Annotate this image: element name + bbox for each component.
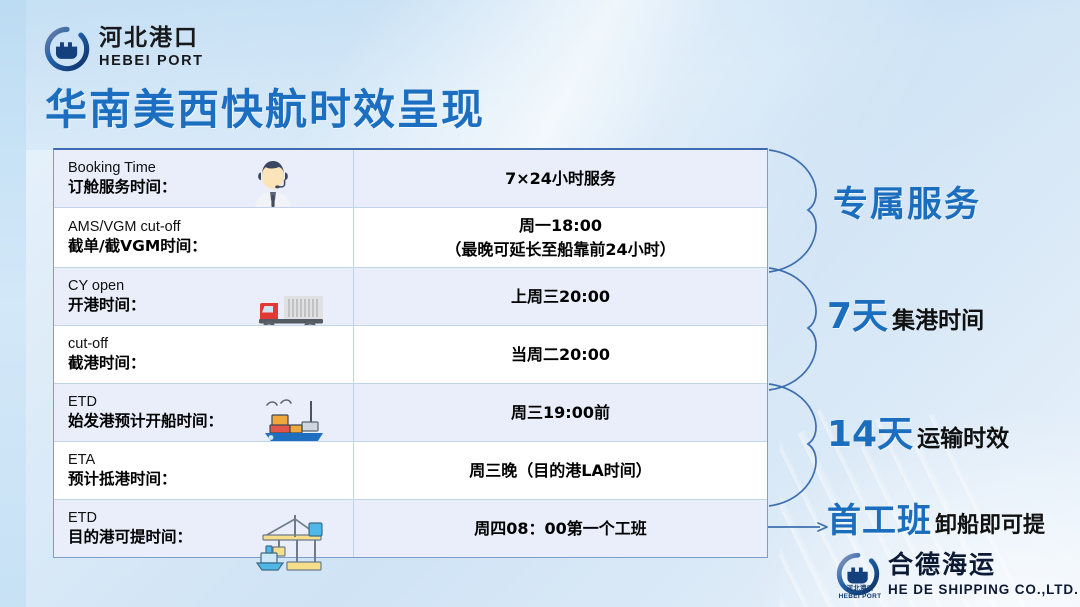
footer-logo-sub: 河北港口 HEBEI PORT bbox=[838, 585, 882, 600]
callout-2-big: 7天 bbox=[827, 287, 888, 339]
callout-4-big: 首工班 bbox=[827, 493, 932, 542]
row-label-en: ETD bbox=[68, 394, 347, 412]
footer-logo-cn: 合德海运 bbox=[888, 552, 1079, 577]
table-row: Booking Time 订舱服务时间： bbox=[54, 150, 767, 207]
row-label-cn: 始发港预计开船时间： bbox=[68, 412, 347, 431]
row-value-line1: 周四08：00第一个工班 bbox=[474, 519, 647, 538]
callout-2-small: 集港时间 bbox=[892, 301, 984, 335]
page-title: 华南美西快航时效呈现 bbox=[45, 76, 485, 137]
footer-logo-en: HE DE SHIPPING CO.,LTD. bbox=[888, 583, 1079, 597]
slide-canvas: 河北港口 HEBEI PORT 华南美西快航时效呈现 Booking Time … bbox=[0, 0, 1080, 607]
row-label-en: CY open bbox=[68, 278, 347, 296]
row-label-en: ETA bbox=[68, 452, 347, 470]
row-value-line1: 当周二20:00 bbox=[511, 345, 610, 364]
header-logo-cn: 河北港口 bbox=[99, 27, 204, 50]
row-label-cell: CY open 开港时间： bbox=[54, 268, 354, 325]
callout-brace-group bbox=[768, 148, 832, 558]
callout-1: 专属服务 bbox=[833, 176, 981, 227]
callout-4: 首工班 卸船即可提 bbox=[827, 493, 1045, 542]
callout-3: 14天 运输时效 bbox=[827, 405, 1009, 457]
row-label-cell: cut-off 截港时间： bbox=[54, 326, 354, 383]
footer-logo-sub-en: HEBEI PORT bbox=[839, 593, 882, 600]
background-left-band bbox=[0, 0, 26, 607]
brace-1 bbox=[769, 150, 816, 272]
callout-4-small: 卸船即可提 bbox=[935, 507, 1045, 539]
callout-1-big: 专属服务 bbox=[833, 176, 981, 227]
footer-logo: 河北港口 HEBEI PORT 合德海运 HE DE SHIPPING CO.,… bbox=[836, 552, 1079, 597]
row-label-en: AMS/VGM cut-off bbox=[68, 219, 347, 237]
row-label-cn: 开港时间： bbox=[68, 296, 347, 315]
header-logo: 河北港口 HEBEI PORT bbox=[44, 26, 204, 72]
brace-3 bbox=[769, 384, 816, 506]
row-label-cn: 截单/截VGM时间： bbox=[68, 237, 347, 256]
footer-logo-sub-cn: 河北港口 bbox=[846, 585, 873, 592]
table-row: ETD 目的港可提时间： bbox=[54, 499, 767, 557]
row-value-cell: 7×24小时服务 bbox=[354, 150, 767, 207]
hebei-port-logo-icon bbox=[44, 26, 90, 72]
row-label-en: ETD bbox=[68, 510, 347, 528]
row-label-cn: 订舱服务时间： bbox=[68, 178, 347, 197]
row-label-cell: ETD 目的港可提时间： bbox=[54, 500, 354, 557]
row-value-cell: 周一18:00 （最晚可延长至船靠前24小时） bbox=[354, 208, 767, 267]
callout-arrow bbox=[768, 520, 830, 534]
row-label-cn: 目的港可提时间： bbox=[68, 528, 347, 547]
row-label-cell: ETA 预计抵港时间： bbox=[54, 442, 354, 499]
row-label-cn: 预计抵港时间： bbox=[68, 470, 347, 489]
row-value-line1: 周一18:00 bbox=[519, 216, 602, 235]
row-label-cn: 截港时间： bbox=[68, 354, 347, 373]
row-value-cell: 周三19:00前 bbox=[354, 384, 767, 441]
row-label-en: Booking Time bbox=[68, 160, 347, 178]
table-row: CY open 开港时间： bbox=[54, 267, 767, 325]
row-value-line1: 周三19:00前 bbox=[511, 403, 610, 422]
callout-3-small: 运输时效 bbox=[917, 419, 1009, 453]
row-label-cell: AMS/VGM cut-off 截单/截VGM时间： bbox=[54, 208, 354, 267]
row-value-cell: 上周三20:00 bbox=[354, 268, 767, 325]
row-value-cell: 周三晚（目的港LA时间） bbox=[354, 442, 767, 499]
hede-shipping-logo-icon: 河北港口 HEBEI PORT bbox=[836, 552, 880, 596]
row-value-line1: 7×24小时服务 bbox=[505, 169, 616, 188]
table-row: ETA 预计抵港时间： 周三晚（目的港LA时间） bbox=[54, 441, 767, 499]
brace-2 bbox=[769, 268, 816, 390]
table-row: AMS/VGM cut-off 截单/截VGM时间： 周一18:00 （最晚可延… bbox=[54, 207, 767, 267]
row-value-line2: （最晚可延长至船靠前24小时） bbox=[445, 238, 675, 261]
row-label-cell: Booking Time 订舱服务时间： bbox=[54, 150, 354, 207]
header-logo-en: HEBEI PORT bbox=[99, 54, 204, 69]
row-value-cell: 当周二20:00 bbox=[354, 326, 767, 383]
row-value-cell: 周四08：00第一个工班 bbox=[354, 500, 767, 557]
row-label-en: cut-off bbox=[68, 336, 347, 354]
callout-2: 7天 集港时间 bbox=[827, 287, 984, 339]
callout-3-big: 14天 bbox=[827, 405, 913, 457]
row-label-cell: ETD 始发港预计开船时间： bbox=[54, 384, 354, 441]
schedule-table: Booking Time 订舱服务时间： bbox=[53, 148, 768, 558]
table-row: ETD 始发港预计开船时间： bbox=[54, 383, 767, 441]
row-value-line1: 上周三20:00 bbox=[511, 287, 610, 306]
table-row: cut-off 截港时间： 当周二20:00 bbox=[54, 325, 767, 383]
row-value-line1: 周三晚（目的港LA时间） bbox=[469, 461, 652, 480]
